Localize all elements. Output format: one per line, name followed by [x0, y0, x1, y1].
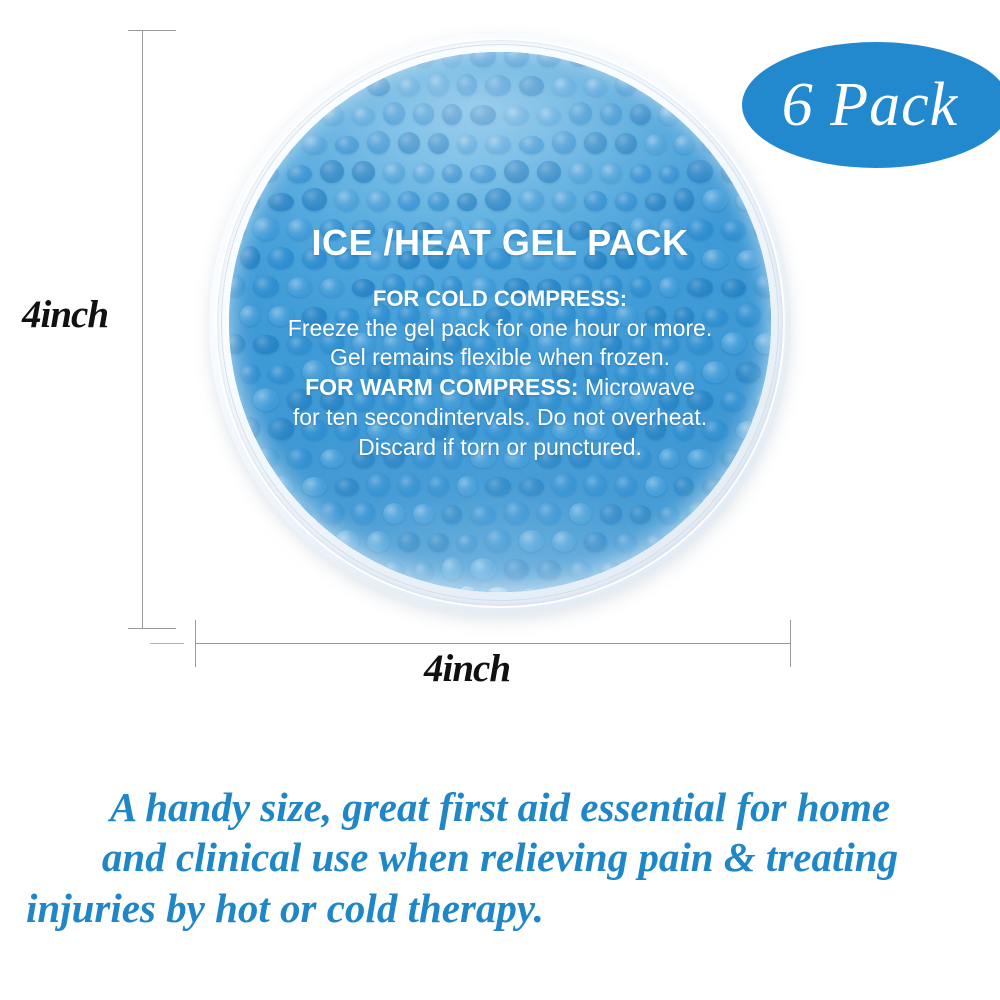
caption-line-1: A handy size, great first aid essential … — [12, 782, 988, 832]
gel-beads — [229, 52, 771, 592]
height-dimension-cap-top — [128, 30, 176, 31]
six-pack-badge-label: 6 Pack — [782, 70, 958, 141]
width-dimension-cap-left — [195, 620, 196, 667]
gel-bead-field — [229, 52, 771, 592]
gel-pack-product: ICE /HEAT GEL PACK FOR COLD COMPRESS: Fr… — [209, 33, 791, 615]
width-dimension-label: 4inch — [424, 646, 510, 691]
caption-line-3: injuries by hot or cold therapy. — [12, 883, 988, 933]
height-dimension-label: 4inch — [22, 292, 108, 337]
height-dimension-cap-bottom — [128, 628, 176, 629]
width-dimension-line — [195, 643, 791, 644]
six-pack-badge: 6 Pack — [742, 42, 1000, 168]
product-image-canvas: 4inch 4inch ICE /HEAT GEL PACK FOR COLD … — [0, 0, 1000, 1000]
width-dimension-extension-tick — [150, 643, 184, 644]
height-dimension-line — [142, 30, 143, 628]
width-dimension-cap-right — [790, 620, 791, 667]
caption-line-2: and clinical use when relieving pain & t… — [12, 832, 988, 882]
product-caption: A handy size, great first aid essential … — [12, 782, 988, 933]
